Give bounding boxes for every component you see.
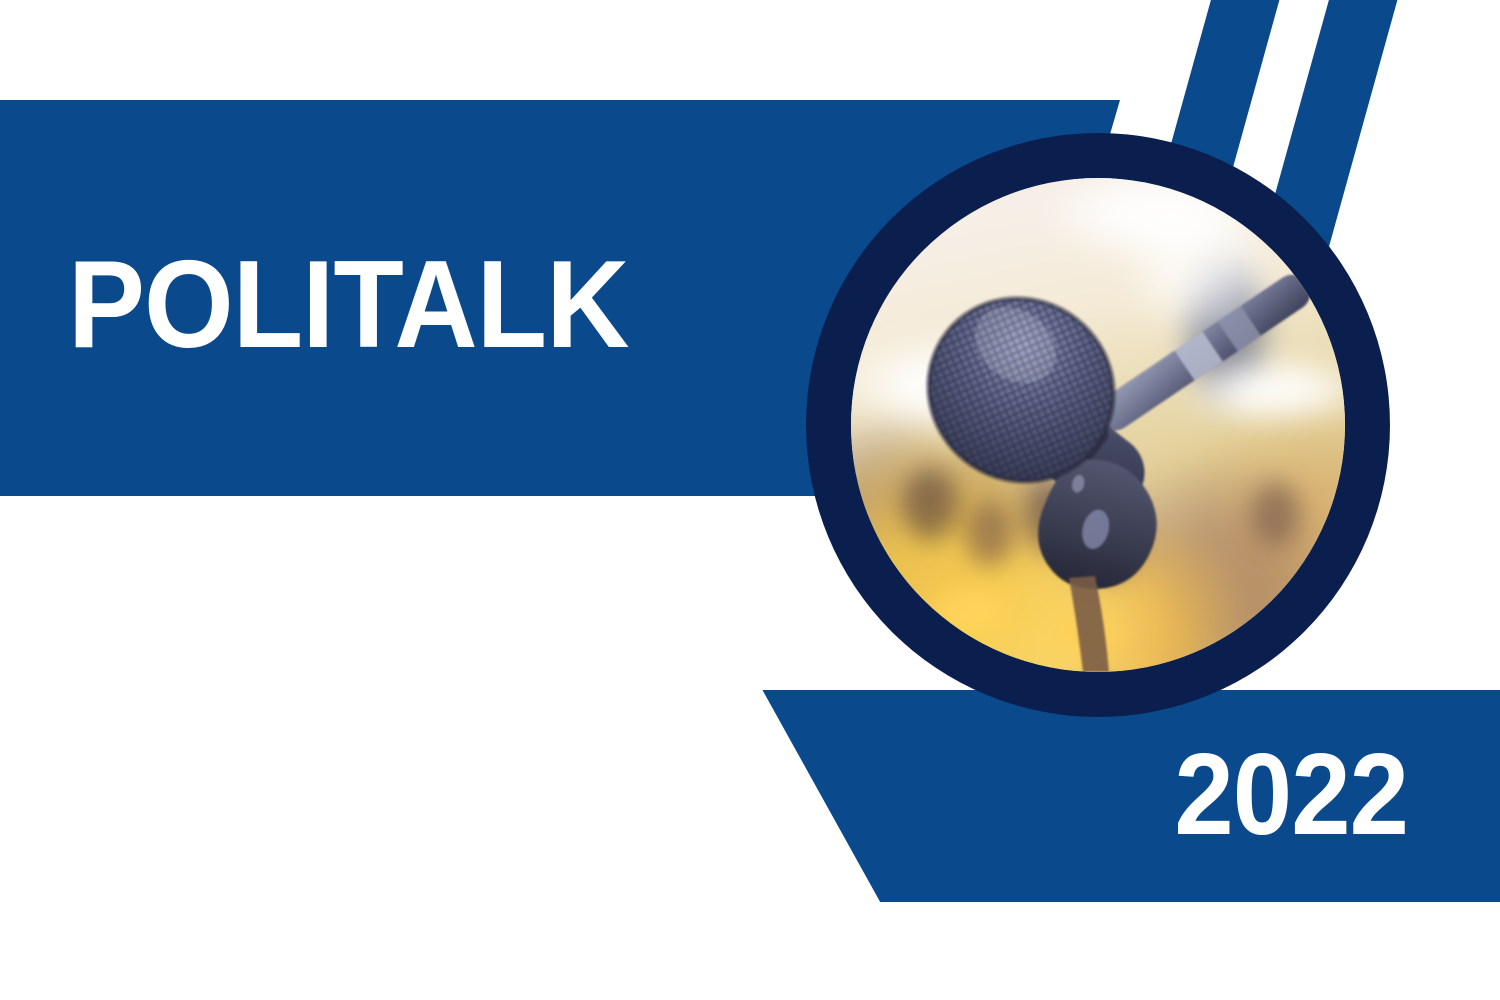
year-label: 2022	[1174, 736, 1408, 852]
page-title: POLITALK	[68, 243, 629, 367]
microphone-icon	[851, 178, 1345, 672]
poster-canvas: POLITALK 2022	[0, 0, 1500, 1000]
badge-photo	[851, 178, 1345, 672]
badge-ring	[806, 133, 1390, 717]
